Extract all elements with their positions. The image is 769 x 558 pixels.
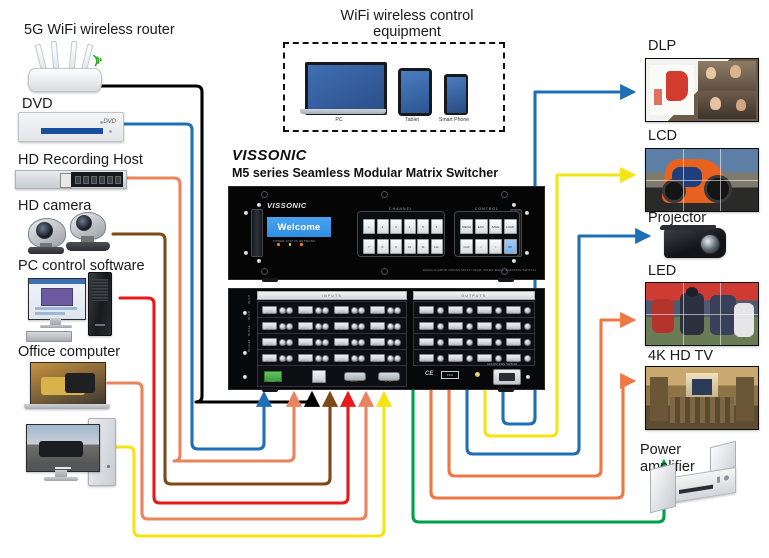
label-router: 5G WiFi wireless router [24,22,175,38]
control-button-save[interactable]: SAVE [489,219,502,234]
channel-button-3[interactable]: 3 [390,219,402,234]
laptop-base [24,404,110,409]
ce-mark-icon: CE [425,371,433,377]
audio-input-label: AUDIO IN [385,312,403,314]
hdmi-input-label: HDMI IN [332,344,350,346]
hd-recording-host-icon [15,170,127,189]
label-led: LED [648,263,676,279]
control-pc-base [300,109,386,114]
control-tablet-icon [398,68,432,116]
input-card-row-3[interactable]: HDMI INAUDIO INHDMI INAUDIO INHDMI INAUD… [257,333,407,350]
rs232-port[interactable] [344,372,366,381]
control-pc-icon [305,62,387,115]
audio-input-label: AUDIO IN [349,344,367,346]
audio-output-jack[interactable] [437,339,444,346]
hdmi-input-label: HDMI IN [332,360,350,362]
label-projector: Projector [648,210,706,226]
channel-button-4[interactable]: 4 [404,219,416,234]
slot-label-1: IN 1-4 [248,295,251,304]
outputs-section-label: OUTPUTS [413,291,535,300]
output-card-row-1[interactable]: HDMI OUTHDMI OUTHDMI OUTHDMI OUT [413,301,535,318]
audio-output-jack[interactable] [524,339,531,346]
hdmi-output-label: HDMI OUT [417,328,436,330]
control-ports-row[interactable]: RS-485 ETHERNET RS-232 IR / EXT [257,365,407,387]
hdmi-input-label: HDMI IN [260,312,278,314]
audio-input-label: AUDIO IN [277,312,295,314]
label-lcd: LCD [648,128,677,144]
channel-button-10[interactable]: 10 [404,239,416,254]
output-card-row-2[interactable]: HDMI OUTHDMI OUTHDMI OUTHDMI OUT [413,317,535,334]
audio-input-label: AUDIO IN [385,344,403,346]
inputs-section-label: INPUTS [257,291,407,300]
diagram-canvas: 5G WiFi wireless router DVD DVD HD Recor… [0,0,769,558]
cable-switcher-to-power-amplifier [413,390,664,522]
hdmi-output-label: HDMI OUT [446,312,465,314]
channel-button-11[interactable]: 11 [417,239,429,254]
channel-group-title: CHANNEL [358,207,444,211]
power-input-label: AC110V-240V 50/60Hz [487,363,517,366]
control-pc-label: PC [313,117,365,123]
television-icon [645,366,759,430]
control-button-group[interactable]: CONTROL MENUESCSAVELOADCLR<>OK [454,211,520,257]
ground-screw-icon [475,372,480,377]
audio-output-jack[interactable] [495,355,502,362]
audio-output-jack[interactable] [524,307,531,314]
hdmi-output-label: HDMI OUT [504,312,523,314]
audio-output-jack[interactable] [495,323,502,330]
hdmi-input-label: HDMI IN [296,344,314,346]
office-laptop-screen-icon [30,362,106,406]
hdmi-input-label: HDMI IN [296,360,314,362]
hdmi-input-label: HDMI IN [260,328,278,330]
channel-button-1[interactable]: 1 [363,219,375,234]
hdmi-input-label: HDMI IN [296,312,314,314]
audio-output-jack[interactable] [437,355,444,362]
keyboard-icon [26,331,72,342]
control-smartphone-icon [444,74,468,115]
front-logo: VISSONIC [267,201,307,210]
iec-power-inlet[interactable] [493,369,521,385]
audio-output-jack[interactable] [437,323,444,330]
hdmi-input-label: HDMI IN [296,328,314,330]
hdmi-input-label: HDMI IN [368,312,386,314]
hdmi-output-label: HDMI OUT [446,360,465,362]
front-status-leds [277,243,303,246]
input-card-row-1[interactable]: HDMI INAUDIO INHDMI INAUDIO INHDMI INAUD… [257,301,407,318]
audio-output-jack[interactable] [524,323,531,330]
hdmi-input-label: HDMI IN [332,328,350,330]
audio-input-label: AUDIO IN [313,328,331,330]
lcd-video-wall-icon [645,148,759,212]
channel-button-group[interactable]: CHANNEL 1234567891011ALL [357,211,445,257]
rs232-label: RS-232 [342,381,366,383]
channel-button-8[interactable]: 8 [377,239,389,254]
hdmi-output-label: HDMI OUT [446,328,465,330]
switcher-brand: VISSONIC [232,147,307,164]
rack-foot-right [498,278,514,282]
label-dlp: DLP [648,38,676,54]
hdmi-output-label: HDMI OUT [504,328,523,330]
hdmi-output-label: HDMI OUT [475,360,494,362]
control-button-ok[interactable]: OK [504,239,517,254]
audio-output-jack[interactable] [466,339,473,346]
control-button->[interactable]: > [489,239,502,254]
dlp-video-wall-icon [645,58,759,122]
rear-foot-left [262,388,278,392]
input-card-row-2[interactable]: HDMI INAUDIO INHDMI INAUDIO INHDMI INAUD… [257,317,407,334]
hdmi-input-label: HDMI IN [368,360,386,362]
dvd-player-icon: DVD [18,112,124,142]
audio-input-label: AUDIO IN [313,344,331,346]
audio-output-jack[interactable] [437,307,444,314]
control-smartphone-label: Smart Phone [428,117,480,123]
front-tagline: DRAG & DROP CROSS MULTI-VIEW VIDEO WALL … [423,268,536,272]
audio-input-label: AUDIO IN [313,312,331,314]
matrix-switcher-rear-panel[interactable]: INPUTS OUTPUTS HDMI INAUDIO INHDMI INAUD… [228,288,545,390]
control-button-menu[interactable]: MENU [460,219,473,234]
channel-button-2[interactable]: 2 [377,219,389,234]
switcher-model: M5 series Seamless Modular Matrix Switch… [232,166,498,180]
hdmi-input-label: HDMI IN [332,312,350,314]
control-button-load[interactable]: LOAD [504,219,517,234]
hdmi-output-label: HDMI OUT [475,312,494,314]
control-button-esc[interactable]: ESC [475,219,488,234]
hdmi-input-label: HDMI IN [260,344,278,346]
front-lcd-display: Welcome [267,217,331,237]
input-card-row-4[interactable]: HDMI INAUDIO INHDMI INAUDIO INHDMI INAUD… [257,349,407,366]
slot-label-4: IN 13-16 [248,340,251,352]
rack-foot-left [262,278,278,282]
matrix-switcher-front-panel[interactable]: VISSONIC Welcome POWER STATUS NETWORK CH… [228,186,545,280]
control-button-<[interactable]: < [475,239,488,254]
hdmi-output-label: HDMI OUT [475,344,494,346]
dvd-face-text: DVD [103,119,116,125]
label-dvd: DVD [22,96,53,112]
power-amp-label-line1: Power [640,442,681,458]
hdmi-output-label: HDMI OUT [417,344,436,346]
rear-foot-right [498,388,514,392]
audio-input-label: AUDIO IN [385,360,403,362]
pc-control-monitor-icon [28,278,86,320]
audio-input-label: AUDIO IN [385,328,403,330]
fcc-mark-icon: FCC [441,371,459,379]
audio-input-label: AUDIO IN [349,360,367,362]
channel-button-5[interactable]: 5 [417,219,429,234]
hdmi-input-label: HDMI IN [368,328,386,330]
projector-icon [664,228,726,258]
audio-input-label: AUDIO IN [277,344,295,346]
hdmi-output-label: HDMI OUT [417,360,436,362]
audio-input-label: AUDIO IN [349,312,367,314]
audio-output-jack[interactable] [495,339,502,346]
audio-output-jack[interactable] [524,355,531,362]
cable-switcher-to-4k-tv [431,381,633,498]
channel-button-9[interactable]: 9 [390,239,402,254]
audio-input-label: AUDIO IN [313,360,331,362]
audio-input-label: AUDIO IN [349,328,367,330]
ir-ext-port[interactable] [378,372,400,381]
audio-output-jack[interactable] [466,307,473,314]
channel-button-ALL[interactable]: ALL [431,239,443,254]
label-recorder: HD Recording Host [18,152,143,168]
audio-output-jack[interactable] [495,307,502,314]
label-pc-control: PC control software [18,258,145,274]
audio-input-label: AUDIO IN [277,328,295,330]
slot-label-3: IN 9-12 [248,325,251,336]
hdmi-output-label: HDMI OUT [446,344,465,346]
audio-input-label: AUDIO IN [277,360,295,362]
label-office-computer: Office computer [18,344,120,360]
control-group-title: CONTROL [455,207,519,211]
audio-output-jack[interactable] [466,355,473,362]
pc-tower-icon [88,272,112,336]
hdmi-input-label: HDMI IN [260,360,278,362]
ir-ext-label: IR / EXT [376,381,402,383]
hdmi-input-label: HDMI IN [368,344,386,346]
wifi-arcs-icon [91,51,107,69]
wifi-signal-icon [91,51,108,74]
hdmi-output-label: HDMI OUT [417,312,436,314]
hdmi-output-label: HDMI OUT [475,328,494,330]
label-4k-tv: 4K HD TV [648,348,713,364]
ethernet-label: ETHERNET [306,381,330,383]
monitor-base [40,325,72,328]
hdmi-output-label: HDMI OUT [504,360,523,362]
control-button-clr[interactable]: CLR [460,239,473,254]
hdmi-output-label: HDMI OUT [504,344,523,346]
output-card-row-3[interactable]: HDMI OUTHDMI OUTHDMI OUTHDMI OUT [413,333,535,350]
rs485-label: RS-485 [260,381,284,383]
slot-label-2: IN 5-8 [248,311,251,320]
desktop-monitor-base [44,477,78,481]
audio-output-jack[interactable] [466,323,473,330]
led-video-wall-icon [645,282,759,346]
channel-button-7[interactable]: 7 [363,239,375,254]
label-control-box: WiFi wireless control equipment [322,8,492,40]
channel-button-6[interactable]: 6 [431,219,443,234]
projector-top [659,225,717,230]
label-camera: HD camera [18,198,91,214]
desktop-monitor-icon [26,424,100,472]
